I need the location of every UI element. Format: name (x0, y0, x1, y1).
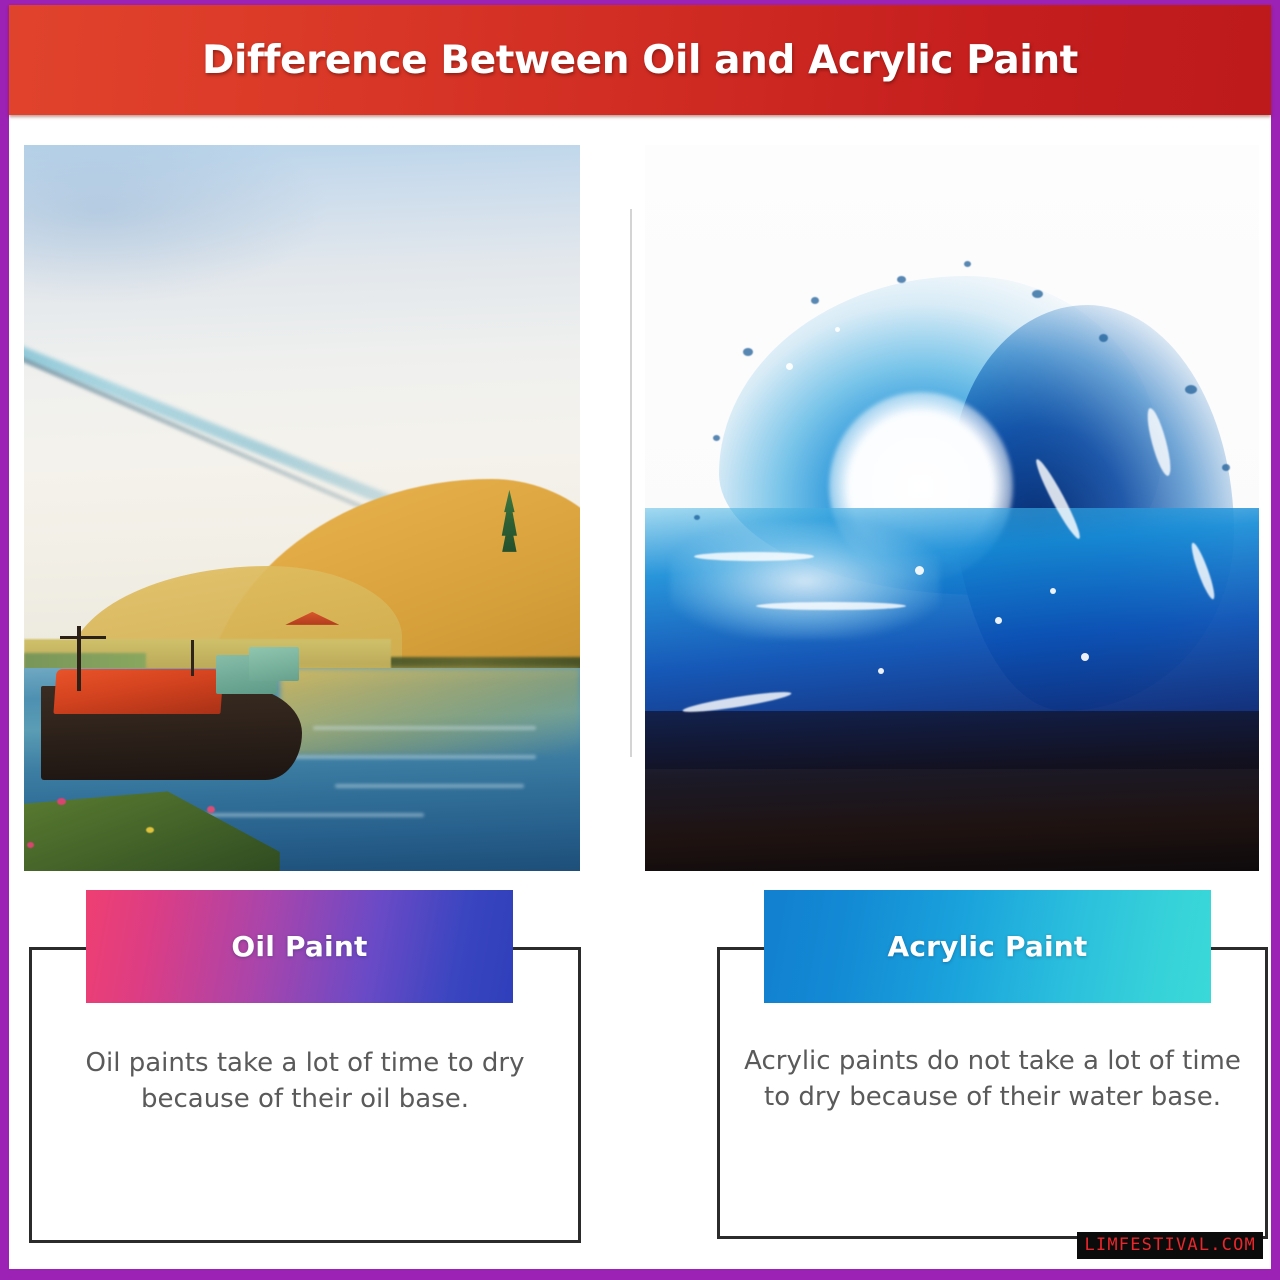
oil-water-ripple (269, 755, 536, 759)
acrylic-paint-splatter (743, 348, 753, 356)
oil-paint-description-text: Oil paints take a lot of time to dry bec… (48, 1046, 562, 1118)
acrylic-paint-description-text: Acrylic paints do not take a lot of time… (736, 1044, 1249, 1116)
acrylic-foam-streak (694, 552, 814, 561)
acrylic-paint-splatter (1185, 385, 1197, 394)
oil-sky-cloud-tint (24, 145, 330, 305)
acrylic-paint-splatter (1222, 464, 1230, 471)
oil-water-gold-reflection (280, 668, 580, 755)
oil-paint-label: Oil Paint (231, 930, 367, 963)
acrylic-foam-droplet (786, 363, 793, 370)
acrylic-paint-splatter (1032, 290, 1043, 298)
oil-water-ripple (313, 726, 535, 730)
acrylic-wave-highlight (670, 523, 940, 639)
site-watermark: LIMFESTIVAL.COM (1077, 1232, 1263, 1259)
oil-boat-mast-secondary (191, 640, 194, 676)
oil-boat-cabin-secondary (249, 647, 299, 680)
oil-boat-crossbeam (60, 636, 106, 639)
header-banner: Difference Between Oil and Acrylic Paint (9, 5, 1271, 115)
acrylic-paint-label-banner: Acrylic Paint (764, 890, 1211, 1003)
artwork-row (9, 117, 1271, 877)
acrylic-foam-droplet (995, 617, 1002, 624)
acrylic-paint-splatter (811, 297, 819, 304)
oil-painting-canvas (24, 145, 580, 871)
acrylic-paint-splatter (897, 276, 906, 283)
artwork-divider (630, 209, 632, 757)
oil-paint-artwork (24, 145, 580, 871)
oil-water-ripple (191, 813, 425, 817)
acrylic-paint-artwork (645, 145, 1259, 871)
oil-bank-flower (27, 842, 34, 848)
acrylic-paint-splatter (713, 435, 720, 441)
infographic-page: Difference Between Oil and Acrylic Paint (0, 0, 1280, 1280)
oil-paint-label-banner: Oil Paint (86, 890, 513, 1003)
acrylic-paint-splatter (964, 261, 971, 267)
acrylic-foam-droplet (835, 327, 840, 332)
acrylic-painting-canvas (645, 145, 1259, 871)
page-title: Difference Between Oil and Acrylic Paint (202, 38, 1078, 83)
acrylic-wave-dark-trough (645, 711, 1259, 871)
acrylic-paint-label: Acrylic Paint (887, 930, 1087, 963)
oil-water-ripple (335, 784, 524, 788)
